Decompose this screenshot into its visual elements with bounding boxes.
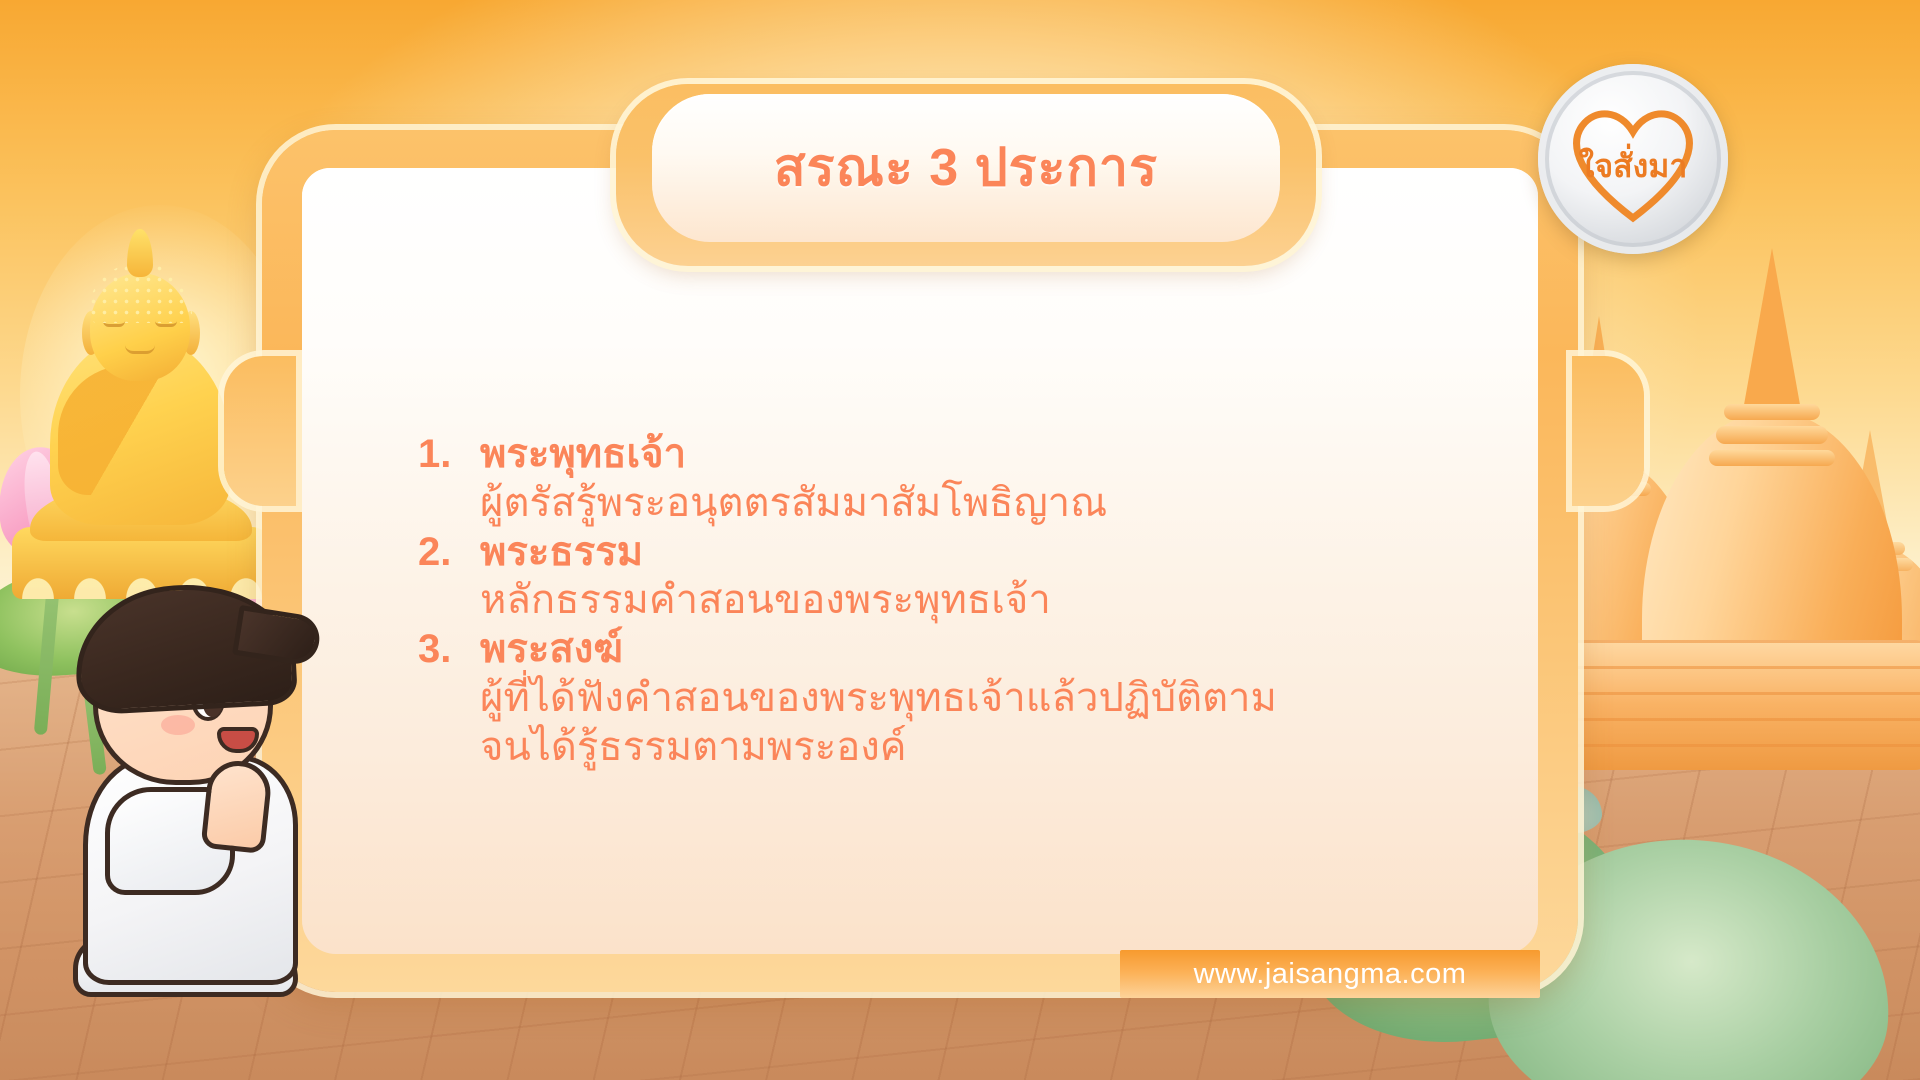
list-item-description: หลักธรรมคำสอนของพระพุทธเจ้า — [418, 576, 1428, 625]
frame-notch-left — [224, 356, 296, 506]
pagoda-large-icon — [1642, 248, 1902, 678]
list-item-number: 1. — [418, 430, 480, 479]
praying-boy-illustration — [55, 575, 315, 1005]
list-item-description-continued: จนได้รู้ธรรมตามพระองค์ — [418, 723, 1428, 772]
page-title: สรณะ 3 ประการ — [774, 142, 1158, 194]
list-item: 2. พระธรรม — [418, 528, 1428, 577]
slide-canvas: สรณะ 3 ประการ ใจสั่งมา 1. พระพุทธเจ้า ผู… — [0, 0, 1920, 1080]
list-item: 1. พระพุทธเจ้า — [418, 430, 1428, 479]
brand-logo-badge[interactable]: ใจสั่งมา — [1538, 64, 1728, 254]
list-item-description: ผู้ที่ได้ฟังคำสอนของพระพุทธเจ้าแล้วปฏิบั… — [418, 674, 1428, 723]
list-item-heading: พระสงฆ์ — [480, 625, 623, 674]
sarana-list: 1. พระพุทธเจ้า ผู้ตรัสรู้พระอนุตตรสัมมาส… — [418, 430, 1428, 772]
frame-notch-right — [1572, 356, 1644, 506]
brand-logo-label: ใจสั่งมา — [1579, 141, 1688, 192]
website-url[interactable]: www.jaisangma.com — [1194, 958, 1467, 991]
list-item-number: 3. — [418, 625, 480, 674]
website-url-band: www.jaisangma.com — [1120, 950, 1540, 998]
title-plate: สรณะ 3 ประการ — [652, 94, 1280, 242]
list-item-number: 2. — [418, 528, 480, 577]
list-item-description: ผู้ตรัสรู้พระอนุตตรสัมมาสัมโพธิญาณ — [418, 479, 1428, 528]
list-item: 3. พระสงฆ์ — [418, 625, 1428, 674]
list-item-heading: พระพุทธเจ้า — [480, 430, 686, 479]
list-item-heading: พระธรรม — [480, 528, 643, 577]
